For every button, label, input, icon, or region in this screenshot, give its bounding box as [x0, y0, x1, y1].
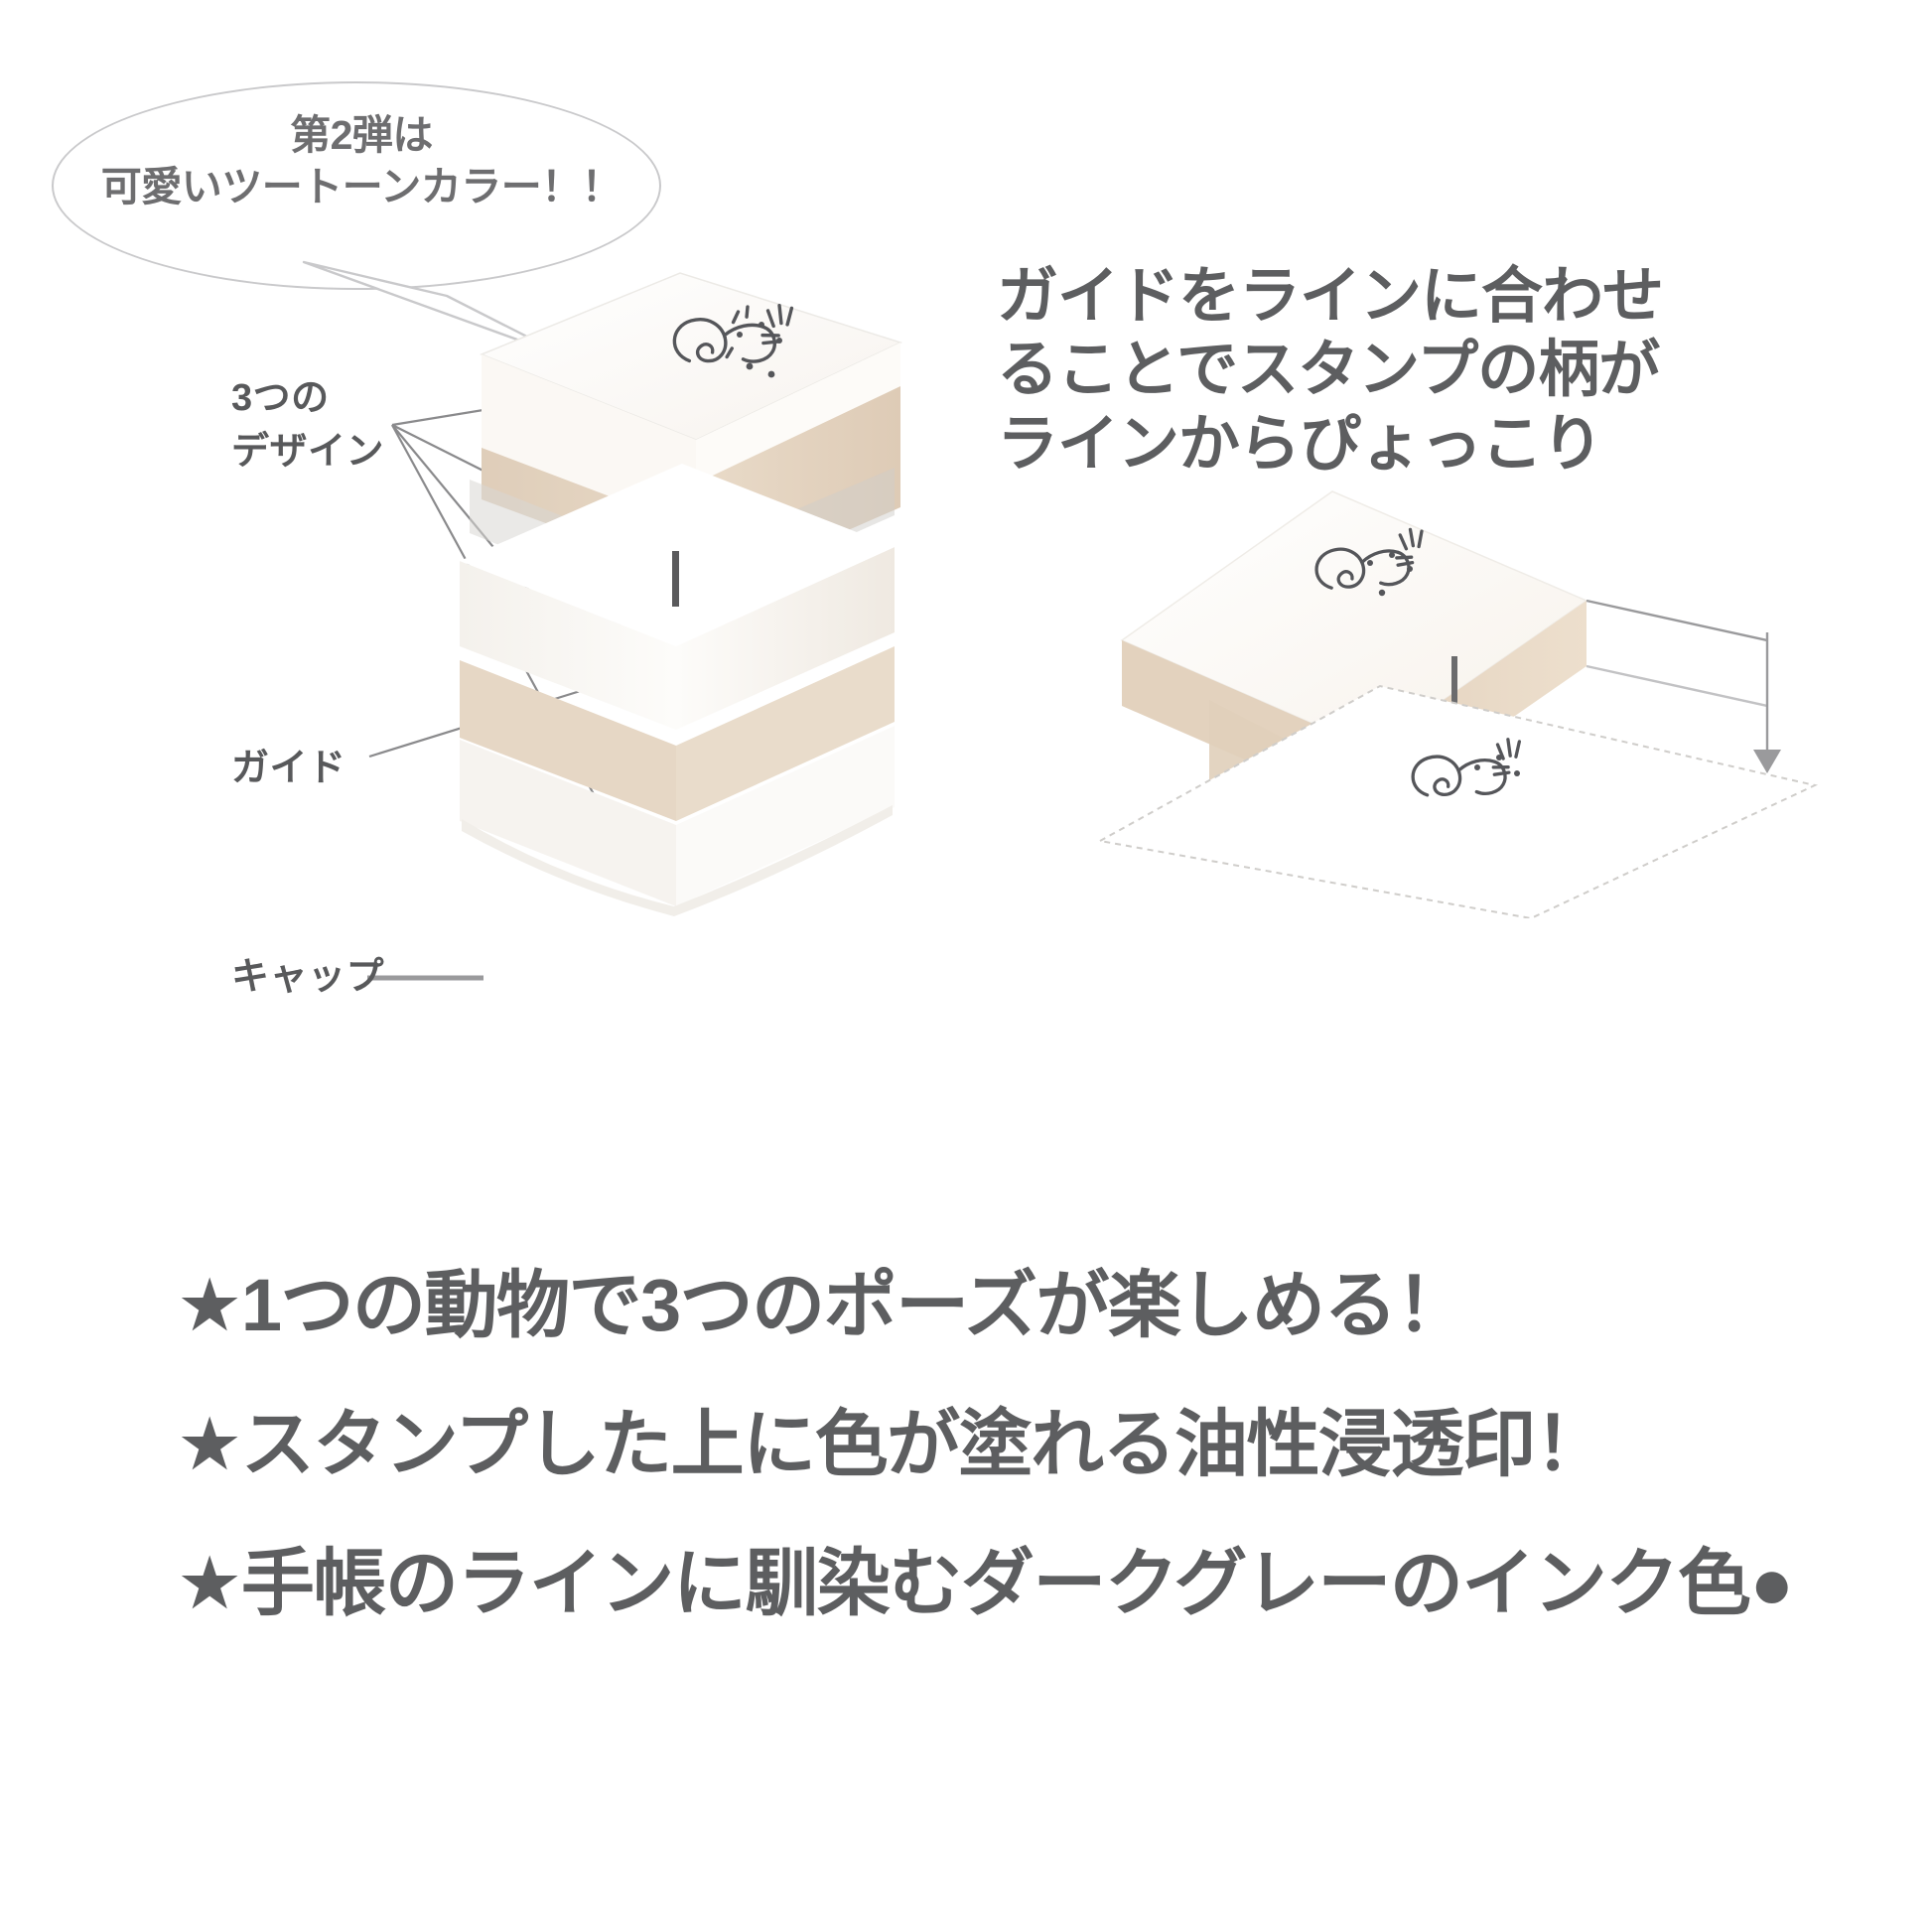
stamping-demo-illustration: [1082, 452, 1932, 918]
feature-list: ★1つの動物で3つのポーズが楽しめる！ ★スタンプした上に色が塗れる油性浸透印！…: [177, 1269, 1932, 1686]
callout-label-guide: ガイド: [231, 743, 346, 796]
feature-item-2: ★スタンプした上に色が塗れる油性浸透印！: [177, 1408, 1932, 1481]
callout-label-cap: キャップ: [231, 951, 384, 1005]
callout-label-design: 3つの デザイン: [231, 372, 384, 480]
stamp-stack-illustration: [452, 263, 928, 918]
speech-bubble-text: 第2弾は 可愛いツートーンカラー！！: [93, 109, 629, 213]
right-description-text: ガイドをラインに合わせ ることでスタンプの柄が ラインからぴょっこり: [997, 260, 1932, 482]
guide-mark: [672, 551, 679, 607]
illustration-stage: 第2弾は 可愛いツートーンカラー！！ 3つの デザイン ガイド キャップ: [0, 0, 1932, 1932]
feature-item-1: ★1つの動物で3つのポーズが楽しめる！: [177, 1269, 1932, 1342]
feature-item-3: ★手帳のラインに馴染むダークグレーのインク色●: [177, 1547, 1932, 1620]
